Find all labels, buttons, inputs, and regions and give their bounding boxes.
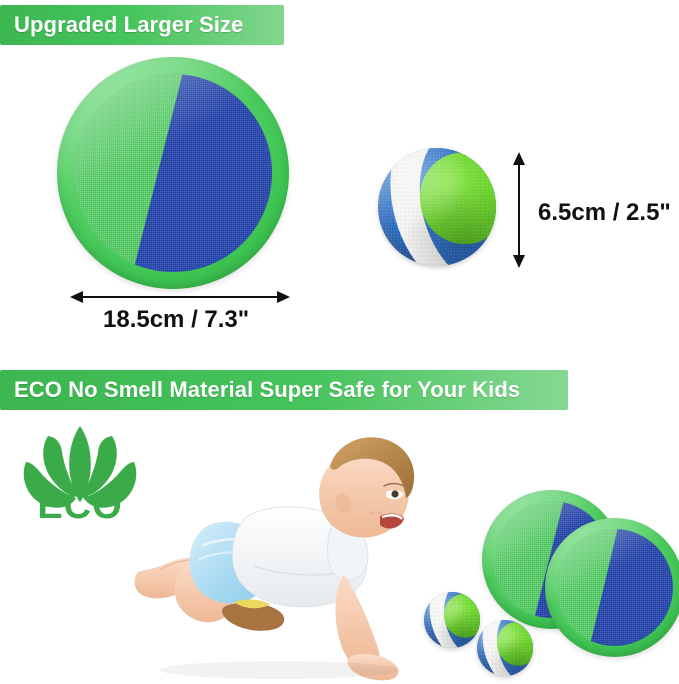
paddle-dimension-arrow: [70, 291, 290, 303]
ball-fuzz-texture: [378, 148, 496, 266]
paddle-velcro-face: [556, 529, 673, 646]
paddle-main: [57, 57, 289, 289]
eco-label: ECO: [18, 487, 142, 525]
paddle-cluster-front: [545, 518, 679, 657]
ball-fuzz-texture: [424, 592, 480, 648]
arrow-head-left-icon: [70, 291, 83, 303]
banner-upgraded-size-text: Upgraded Larger Size: [14, 12, 243, 38]
arrow-line: [83, 296, 277, 298]
ball-fuzz-texture: [477, 620, 533, 676]
paddle-main-velcro-face: [74, 74, 272, 272]
arrow-line: [518, 165, 520, 255]
banner-upgraded-size: Upgraded Larger Size: [0, 5, 284, 45]
paddle-face-fabric-texture: [74, 74, 272, 272]
banner-eco-safe: ECO No Smell Material Super Safe for You…: [0, 370, 568, 410]
ball-cluster-right: [477, 620, 533, 676]
arrow-head-down-icon: [513, 255, 525, 268]
ball-dimension-label: 6.5cm / 2.5": [538, 199, 671, 227]
ball-main: [378, 148, 496, 266]
paddle-face-fabric-texture: [556, 529, 673, 646]
paddle-dimension-label: 18.5cm / 7.3": [103, 306, 249, 334]
arrow-head-right-icon: [277, 291, 290, 303]
banner-eco-safe-text: ECO No Smell Material Super Safe for You…: [14, 377, 520, 403]
ball-cluster-left: [424, 592, 480, 648]
arrow-head-up-icon: [513, 152, 525, 165]
crawling-baby-photo: [130, 420, 430, 682]
baby-head: [319, 437, 414, 537]
ball-dimension-arrow: [513, 152, 525, 268]
